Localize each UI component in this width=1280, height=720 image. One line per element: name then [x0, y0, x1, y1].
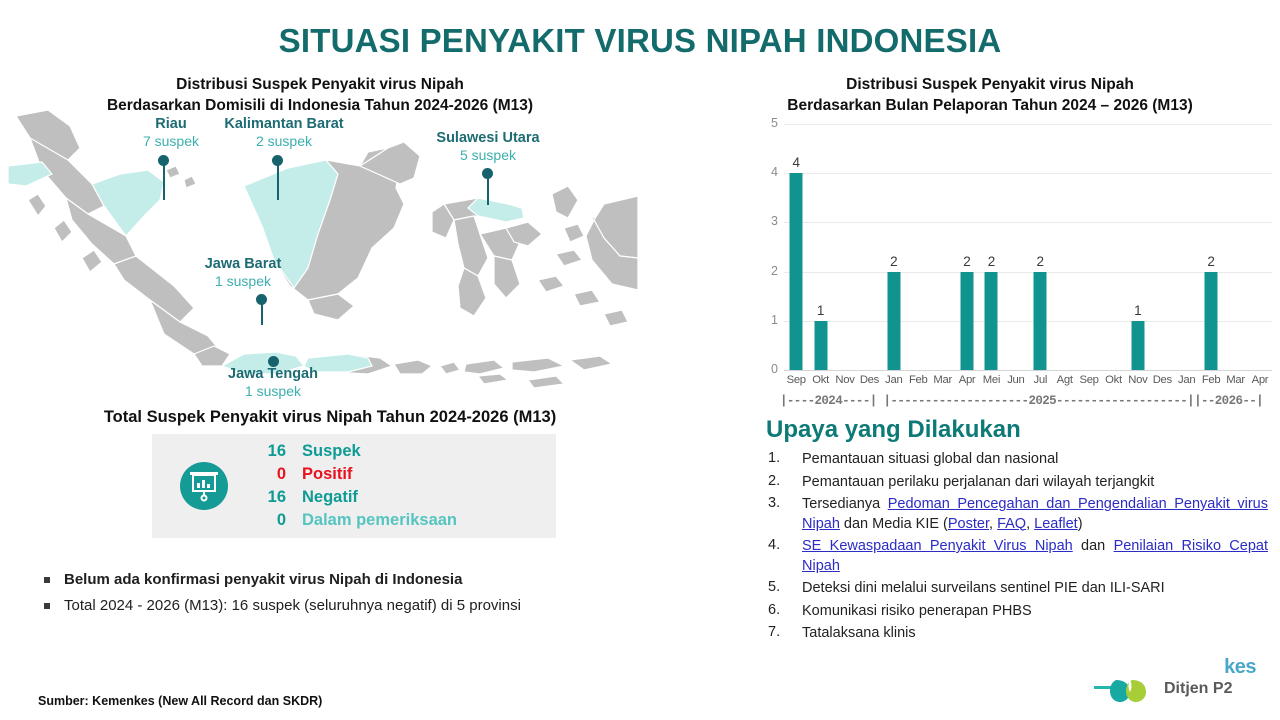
total-value-dalam-pemeriksaan: 0 — [250, 509, 286, 532]
chart-x-tick: Feb — [906, 374, 930, 386]
chart-x-tick: Jan — [882, 374, 906, 386]
chart-bar-slot: 2 — [979, 124, 1003, 370]
chart-x-tick: Mar — [1223, 374, 1247, 386]
bullet-text: Total 2024 - 2026 (M13): 16 suspek (selu… — [64, 596, 521, 616]
chart-y-tick: 3 — [756, 214, 778, 228]
chart-bar-slot — [1052, 124, 1076, 370]
pin-dot — [272, 155, 283, 166]
chart-x-tick: Sep — [1077, 374, 1101, 386]
chart-bar[interactable] — [1205, 272, 1218, 370]
chart-bar-slot: 4 — [784, 124, 808, 370]
chart-bar-slot — [1150, 124, 1174, 370]
chart-year-ruler: |----2024----| |--------------------2025… — [780, 394, 1276, 408]
chart-bar[interactable] — [985, 272, 998, 370]
upaya-number: 2. — [768, 473, 802, 493]
logo-ditjen-text: Ditjen P2 — [1164, 680, 1232, 698]
chart-x-tick: Nov — [833, 374, 857, 386]
monthly-bar-chart: 41222212 012345 SepOktNovDesJanFebMarApr… — [756, 118, 1280, 418]
map-label-jawa-barat: Jawa Barat 1 suspek — [158, 256, 328, 290]
chart-bar-slot — [1248, 124, 1272, 370]
pin-stem — [163, 160, 165, 200]
chart-bar-slot — [1223, 124, 1247, 370]
page-title: SITUASI PENYAKIT VIRUS NIPAH INDONESIA — [0, 22, 1280, 60]
upaya-number: 5. — [768, 579, 802, 599]
bullet-text: Belum ada konfirmasi penyakit virus Nipa… — [64, 570, 462, 590]
chart-bar-slot — [906, 124, 930, 370]
suffix: ) — [1078, 516, 1083, 532]
chart-x-tick: Apr — [1248, 374, 1272, 386]
link-se-kewaspadaan[interactable]: SE Kewaspadaan Penyakit Virus Nipah — [802, 538, 1073, 554]
upaya-item-4: 4. SE Kewaspadaan Penyakit Virus Nipah d… — [768, 537, 1268, 576]
pin-dot — [268, 356, 279, 367]
logo-mark-icon — [1092, 674, 1156, 704]
chart-plot-area: 41222212 — [784, 124, 1272, 370]
total-values: 16 0 16 0 — [250, 440, 286, 532]
upaya-text: SE Kewaspadaan Penyakit Virus Nipah dan … — [802, 537, 1268, 576]
total-value-positif: 0 — [250, 463, 286, 486]
pin-dot — [158, 155, 169, 166]
source-note: Sumber: Kemenkes (New All Record dan SKD… — [38, 694, 322, 708]
chart-bar-value: 2 — [1207, 254, 1215, 269]
left-subtitle-line1: Distribusi Suspek Penyakit virus Nipah — [176, 76, 464, 93]
chart-x-tick: Okt — [1101, 374, 1125, 386]
pin-dot — [482, 168, 493, 179]
chart-bar-slot — [833, 124, 857, 370]
upaya-number: 4. — [768, 537, 802, 576]
total-label-suspek: Suspek — [302, 440, 457, 463]
map-label-kalimantan-barat: Kalimantan Barat 2 suspek — [204, 116, 364, 150]
chart-bar-value: 1 — [1134, 303, 1142, 318]
chart-bar[interactable] — [1034, 272, 1047, 370]
upaya-number: 7. — [768, 624, 802, 644]
presentation-chart-icon — [180, 462, 228, 510]
chart-y-tick: 5 — [756, 116, 778, 130]
upaya-text: Pemantauan perilaku perjalanan dari wila… — [802, 473, 1154, 493]
chart-x-tick: Sep — [784, 374, 808, 386]
total-section-title: Total Suspek Penyakit virus Nipah Tahun … — [20, 408, 640, 427]
chart-x-tick: Agt — [1052, 374, 1076, 386]
total-labels: Suspek Positif Negatif Dalam pemeriksaan — [302, 440, 457, 532]
upaya-text: Komunikasi risiko penerapan PHBS — [802, 602, 1032, 622]
upaya-text: Deteksi dini melalui surveilans sentinel… — [802, 579, 1165, 599]
chart-x-axis-labels: SepOktNovDesJanFebMarAprMeiJunJulAgtSepO… — [784, 374, 1272, 386]
chart-x-tick: Feb — [1199, 374, 1223, 386]
pin-dot — [256, 294, 267, 305]
upaya-item-7: 7. Tatalaksana klinis — [768, 624, 1268, 644]
chart-bar-value: 2 — [890, 254, 898, 269]
indonesia-map: Riau 7 suspek Kalimantan Barat 2 suspek … — [8, 108, 638, 393]
chart-bar-slot — [1004, 124, 1028, 370]
chart-x-tick: Jun — [1004, 374, 1028, 386]
chart-y-tick: 2 — [756, 264, 778, 278]
upaya-item-1: 1. Pemantauan situasi global dan nasiona… — [768, 450, 1268, 470]
chart-bar-slot: 2 — [955, 124, 979, 370]
total-value-suspek: 16 — [250, 440, 286, 463]
upaya-text: Pemantauan situasi global dan nasional — [802, 450, 1058, 470]
chart-bar-value: 2 — [963, 254, 971, 269]
logo-kes-text: kes — [1224, 656, 1256, 679]
chart-bar-slot — [1175, 124, 1199, 370]
upaya-text-prefix: Tersedianya — [802, 496, 888, 512]
upaya-item-5: 5. Deteksi dini melalui surveilans senti… — [768, 579, 1268, 599]
chart-bar-slot — [857, 124, 881, 370]
link-leaflet[interactable]: Leaflet — [1034, 516, 1078, 532]
upaya-list: 1. Pemantauan situasi global dan nasiona… — [768, 450, 1268, 647]
kemenkes-ditjen-p2-logo: kes Ditjen P2 — [1092, 656, 1262, 708]
total-label-positif: Positif — [302, 463, 457, 486]
list-item: Belum ada konfirmasi penyakit virus Nipa… — [44, 570, 704, 590]
upaya-item-2: 2. Pemantauan perilaku perjalanan dari w… — [768, 473, 1268, 493]
chart-x-tick: Jan — [1175, 374, 1199, 386]
total-label-dalam-pemeriksaan: Dalam pemeriksaan — [302, 509, 457, 532]
right-subtitle-line1: Distribusi Suspek Penyakit virus Nipah — [846, 76, 1134, 93]
chart-bar[interactable] — [814, 321, 827, 370]
chart-bar-value: 2 — [1037, 254, 1045, 269]
upaya-number: 1. — [768, 450, 802, 470]
total-summary-box: 16 0 16 0 Suspek Positif Negatif Dalam p… — [152, 434, 556, 538]
chart-bar-value: 2 — [988, 254, 996, 269]
upaya-text: Tersedianya Pedoman Pencegahan dan Penge… — [802, 495, 1268, 534]
chart-x-tick: Mar — [930, 374, 954, 386]
chart-gridline — [784, 370, 1272, 371]
chart-bar-slot: 2 — [1028, 124, 1052, 370]
chart-bar-slot — [930, 124, 954, 370]
chart-bar-value: 4 — [792, 155, 800, 170]
upaya-item-6: 6. Komunikasi risiko penerapan PHBS — [768, 602, 1268, 622]
total-label-negatif: Negatif — [302, 486, 457, 509]
pin-stem — [277, 160, 279, 200]
chart-x-tick: Jul — [1028, 374, 1052, 386]
chart-x-tick: Des — [857, 374, 881, 386]
map-province-sulawesi-utara — [468, 198, 524, 222]
chart-y-tick: 4 — [756, 165, 778, 179]
sep: , — [989, 516, 997, 532]
chart-x-tick: Mei — [979, 374, 1003, 386]
chart-bar-slot: 1 — [808, 124, 832, 370]
link-poster[interactable]: Poster — [948, 516, 989, 532]
chart-bars: 41222212 — [784, 124, 1272, 370]
total-value-negatif: 16 — [250, 486, 286, 509]
infographic-page: SITUASI PENYAKIT VIRUS NIPAH INDONESIA D… — [0, 0, 1280, 720]
map-label-jawa-tengah: Jawa Tengah 1 suspek — [188, 366, 358, 400]
chart-y-tick: 1 — [756, 313, 778, 327]
upaya-number: 6. — [768, 602, 802, 622]
chart-bar-slot — [1077, 124, 1101, 370]
chart-bar-slot — [1101, 124, 1125, 370]
chart-x-tick: Des — [1150, 374, 1174, 386]
bullet-square-icon — [44, 577, 50, 583]
chart-bar-value: 1 — [817, 303, 825, 318]
chart-bar[interactable] — [961, 272, 974, 370]
chart-bar[interactable] — [1131, 321, 1144, 370]
chart-x-tick: Nov — [1126, 374, 1150, 386]
upaya-section-title: Upaya yang Dilakukan — [766, 416, 1021, 444]
upaya-text-mid: dan Media KIE ( — [840, 516, 948, 532]
summary-bullet-list: Belum ada konfirmasi penyakit virus Nipa… — [44, 570, 704, 622]
right-subtitle-line2: Berdasarkan Bulan Pelaporan Tahun 2024 –… — [787, 97, 1192, 114]
chart-bar[interactable] — [790, 173, 803, 370]
total-stats: 16 0 16 0 Suspek Positif Negatif Dalam p… — [250, 440, 457, 532]
right-panel-subtitle: Distribusi Suspek Penyakit virus Nipah B… — [700, 74, 1280, 116]
bullet-square-icon — [44, 603, 50, 609]
chart-y-tick: 0 — [756, 362, 778, 376]
chart-bar[interactable] — [887, 272, 900, 370]
upaya-number: 3. — [768, 495, 802, 534]
chart-x-tick: Apr — [955, 374, 979, 386]
conjunction: dan — [1073, 538, 1114, 554]
link-faq[interactable]: FAQ — [997, 516, 1026, 532]
chart-x-tick: Okt — [808, 374, 832, 386]
map-label-sulawesi-utara: Sulawesi Utara 5 suspek — [418, 130, 558, 164]
chart-bar-slot: 2 — [882, 124, 906, 370]
list-item: Total 2024 - 2026 (M13): 16 suspek (selu… — [44, 596, 704, 616]
chart-bar-slot: 2 — [1199, 124, 1223, 370]
upaya-item-3: 3. Tersedianya Pedoman Pencegahan dan Pe… — [768, 495, 1268, 534]
sep: , — [1026, 516, 1034, 532]
upaya-text: Tatalaksana klinis — [802, 624, 916, 644]
chart-bar-slot: 1 — [1126, 124, 1150, 370]
